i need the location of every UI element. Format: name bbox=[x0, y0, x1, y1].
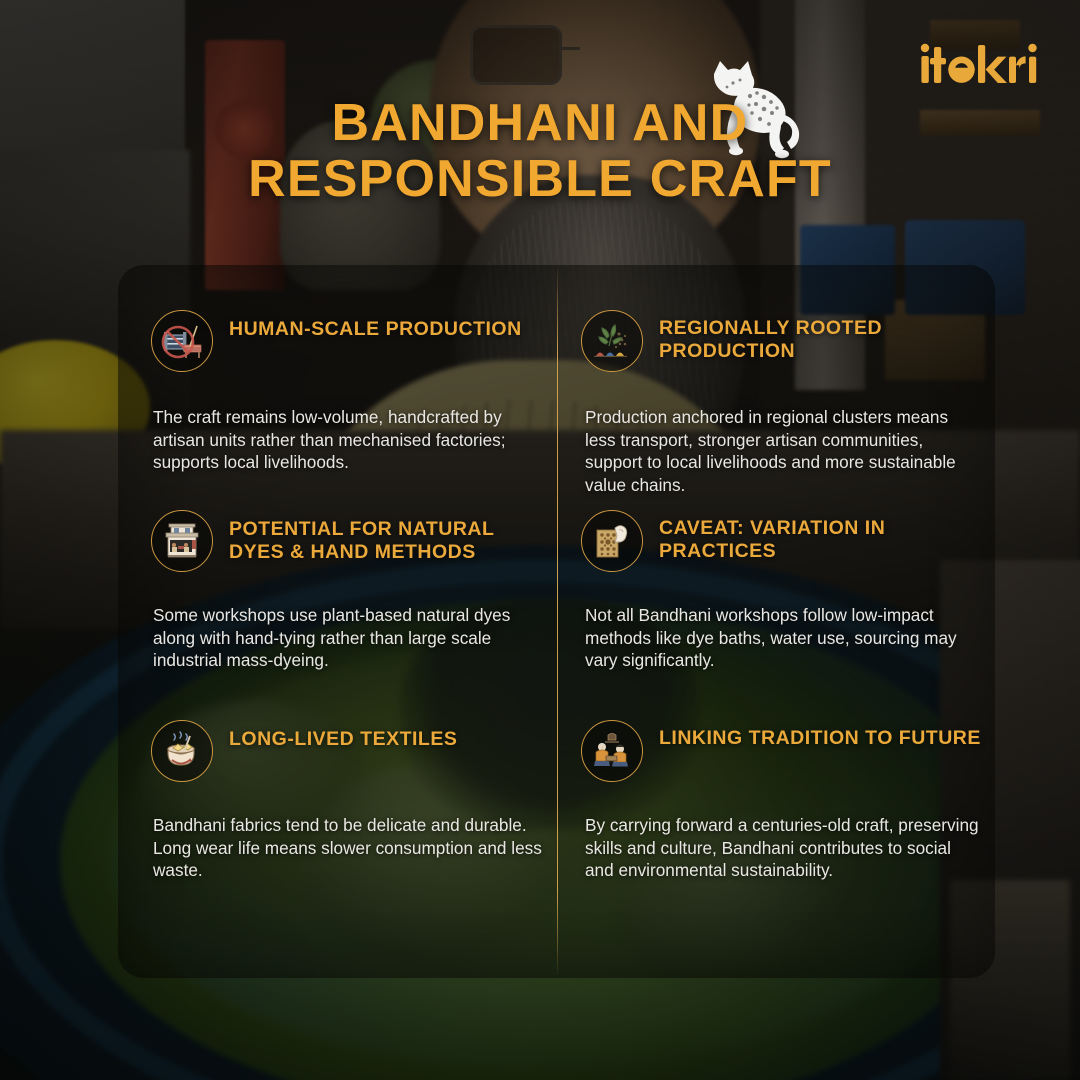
card-body: Some workshops use plant-based natural d… bbox=[151, 604, 551, 672]
card-regionally-rooted-production: REGIONALLY ROOTED PRODUCTION Production … bbox=[581, 310, 981, 497]
two-artisans-icon bbox=[581, 720, 643, 782]
card-header: CAVEAT: VARIATION IN PRACTICES bbox=[581, 510, 981, 572]
card-header: POTENTIAL FOR NATURAL DYES & HAND METHOD… bbox=[151, 510, 551, 572]
card-title: LONG-LIVED TEXTILES bbox=[229, 720, 457, 751]
itokri-wordmark-icon bbox=[918, 39, 1038, 89]
card-body: Not all Bandhani workshops follow low-im… bbox=[581, 604, 981, 672]
card-natural-dyes-hand-methods: POTENTIAL FOR NATURAL DYES & HAND METHOD… bbox=[151, 510, 551, 672]
card-header: REGIONALLY ROOTED PRODUCTION bbox=[581, 310, 981, 372]
card-linking-tradition-to-future: LINKING TRADITION TO FUTURE By carrying … bbox=[581, 720, 981, 882]
card-title: HUMAN-SCALE PRODUCTION bbox=[229, 310, 522, 341]
card-body: By carrying forward a centuries-old craf… bbox=[581, 814, 981, 882]
header: BANDHANI AND RESPONSIBLE CRAFT bbox=[0, 0, 1080, 240]
card-title: CAVEAT: VARIATION IN PRACTICES bbox=[659, 510, 981, 563]
card-title: LINKING TRADITION TO FUTURE bbox=[659, 720, 981, 750]
workshop-building-icon bbox=[151, 510, 213, 572]
plant-dye-mounds-icon bbox=[581, 310, 643, 372]
card-header: LONG-LIVED TEXTILES bbox=[151, 720, 551, 782]
card-header: HUMAN-SCALE PRODUCTION bbox=[151, 310, 551, 372]
card-human-scale-production: HUMAN-SCALE PRODUCTION The craft remains… bbox=[151, 310, 551, 474]
hand-holding-fabric-swatch-icon bbox=[581, 510, 643, 572]
cards-grid: HUMAN-SCALE PRODUCTION The craft remains… bbox=[118, 265, 995, 978]
card-caveat-variation-in-practices: CAVEAT: VARIATION IN PRACTICES Not all B… bbox=[581, 510, 981, 672]
page-title-line-2: RESPONSIBLE CRAFT bbox=[0, 152, 1080, 208]
card-header: LINKING TRADITION TO FUTURE bbox=[581, 720, 981, 782]
steaming-dye-pot-icon bbox=[151, 720, 213, 782]
card-body: Production anchored in regional clusters… bbox=[581, 406, 981, 497]
page-title-line-1: BANDHANI AND bbox=[0, 96, 1080, 152]
card-title: POTENTIAL FOR NATURAL DYES & HAND METHOD… bbox=[229, 510, 551, 564]
page-title: BANDHANI AND RESPONSIBLE CRAFT bbox=[0, 96, 1080, 207]
card-body: Bandhani fabrics tend to be delicate and… bbox=[151, 814, 551, 882]
brand-logo[interactable] bbox=[918, 38, 1038, 90]
card-title: REGIONALLY ROOTED PRODUCTION bbox=[659, 310, 981, 363]
card-long-lived-textiles: LONG-LIVED TEXTILES Bandhani fabrics ten… bbox=[151, 720, 551, 882]
no-factory-icon bbox=[151, 310, 213, 372]
card-body: The craft remains low-volume, handcrafte… bbox=[151, 406, 551, 474]
